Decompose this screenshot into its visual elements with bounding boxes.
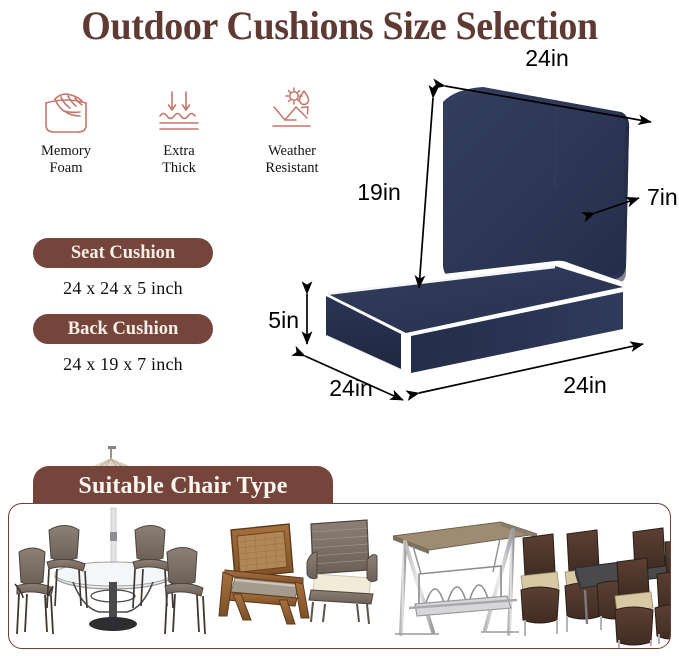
chair-item-wicker-armchair bbox=[307, 520, 377, 624]
chair-item-wicker-dining-set bbox=[521, 528, 670, 648]
chair-item-wooden-lounge-chair bbox=[219, 524, 309, 624]
dimension-seat-height-label: 5in bbox=[268, 307, 299, 333]
seat-cushion-shape bbox=[311, 261, 637, 388]
feature-label: Memory Foam bbox=[41, 143, 91, 177]
extra-thick-icon bbox=[151, 84, 207, 140]
dimension-back-thickness-label: 7in bbox=[647, 184, 678, 210]
feature-extra-thick: Extra Thick bbox=[127, 84, 231, 188]
suitable-chair-type-banner: Suitable Chair Type bbox=[33, 466, 333, 504]
chair-item-porch-swing bbox=[393, 522, 537, 634]
cushion-diagram: 24in 19in 7in 5in 24in 24in bbox=[255, 48, 679, 428]
feature-memory-foam: Memory Foam bbox=[14, 84, 118, 188]
seat-cushion-size: 24 x 24 x 5 inch bbox=[33, 278, 213, 299]
badge-back-cushion: Back Cushion bbox=[33, 314, 213, 344]
badge-seat-cushion: Seat Cushion bbox=[33, 238, 213, 268]
suitable-chair-panel bbox=[8, 503, 671, 649]
chair-item-patio-dining-set bbox=[15, 508, 205, 634]
memory-foam-icon bbox=[38, 84, 94, 140]
feature-label: Extra Thick bbox=[162, 143, 196, 177]
dimension-seat-depth-label: 24in bbox=[563, 372, 606, 398]
back-cushion-size: 24 x 19 x 7 inch bbox=[33, 354, 213, 375]
dimension-back-height-label: 19in bbox=[357, 179, 400, 205]
dimension-back-height bbox=[419, 98, 433, 288]
page-title: Outdoor Cushions Size Selection bbox=[17, 0, 662, 52]
dimension-seat-width-label: 24in bbox=[329, 375, 372, 401]
dimension-back-width-label: 24in bbox=[525, 48, 568, 71]
